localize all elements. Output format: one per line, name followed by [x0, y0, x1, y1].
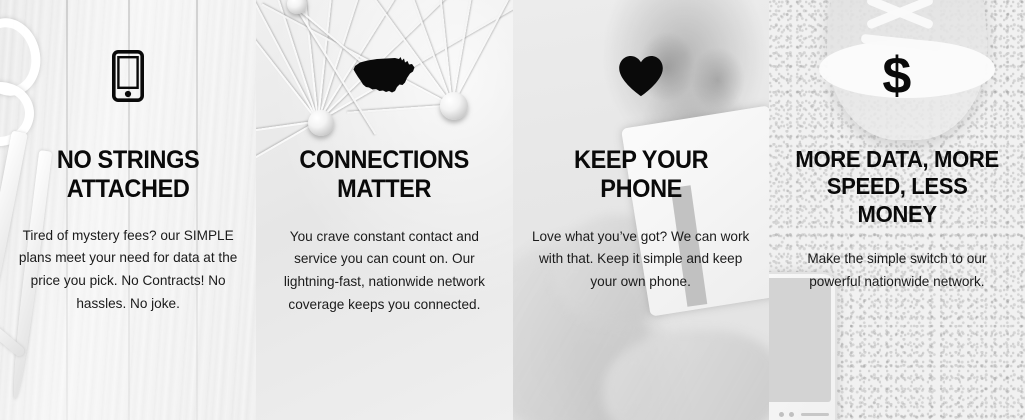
usa-map-icon	[351, 56, 417, 96]
mobile-phone-icon-slot	[112, 0, 144, 152]
panel-title: CONNECTIONS MATTER	[277, 146, 492, 205]
panel-title: NO STRINGS ATTACHED	[21, 146, 236, 205]
feature-panel-more-data-more-speed-less-money[interactable]: $ MORE DATA, MORE SPEED, LESS MONEY Make…	[769, 0, 1025, 420]
panel-body-text: Make the simple switch to our powerful n…	[790, 248, 1004, 294]
heart-icon	[618, 55, 664, 97]
panel-title: KEEP YOUR PHONE	[533, 146, 748, 205]
panel-body-text: You crave constant contact and service y…	[270, 226, 498, 317]
dollar-sign-icon: $	[882, 50, 911, 102]
heart-icon-slot	[618, 0, 664, 152]
feature-highlights-section: NO STRINGS ATTACHED Tired of mystery fee…	[0, 0, 1025, 420]
panel-body-text: Love what you’ve got? We can work with t…	[527, 226, 755, 294]
feature-panel-connections-matter[interactable]: CONNECTIONS MATTER You crave constant co…	[256, 0, 512, 420]
mobile-phone-icon	[112, 50, 144, 102]
panel-title: MORE DATA, MORE SPEED, LESS MONEY	[790, 146, 1005, 228]
feature-panel-no-strings-attached[interactable]: NO STRINGS ATTACHED Tired of mystery fee…	[0, 0, 256, 420]
usa-map-icon-slot	[351, 0, 417, 152]
panel-body-text: Tired of mystery fees? our SIMPLE plans …	[14, 225, 242, 316]
feature-panel-keep-your-phone[interactable]: KEEP YOUR PHONE Love what you’ve got? We…	[513, 0, 769, 420]
dollar-sign-icon-slot: $	[882, 0, 911, 152]
